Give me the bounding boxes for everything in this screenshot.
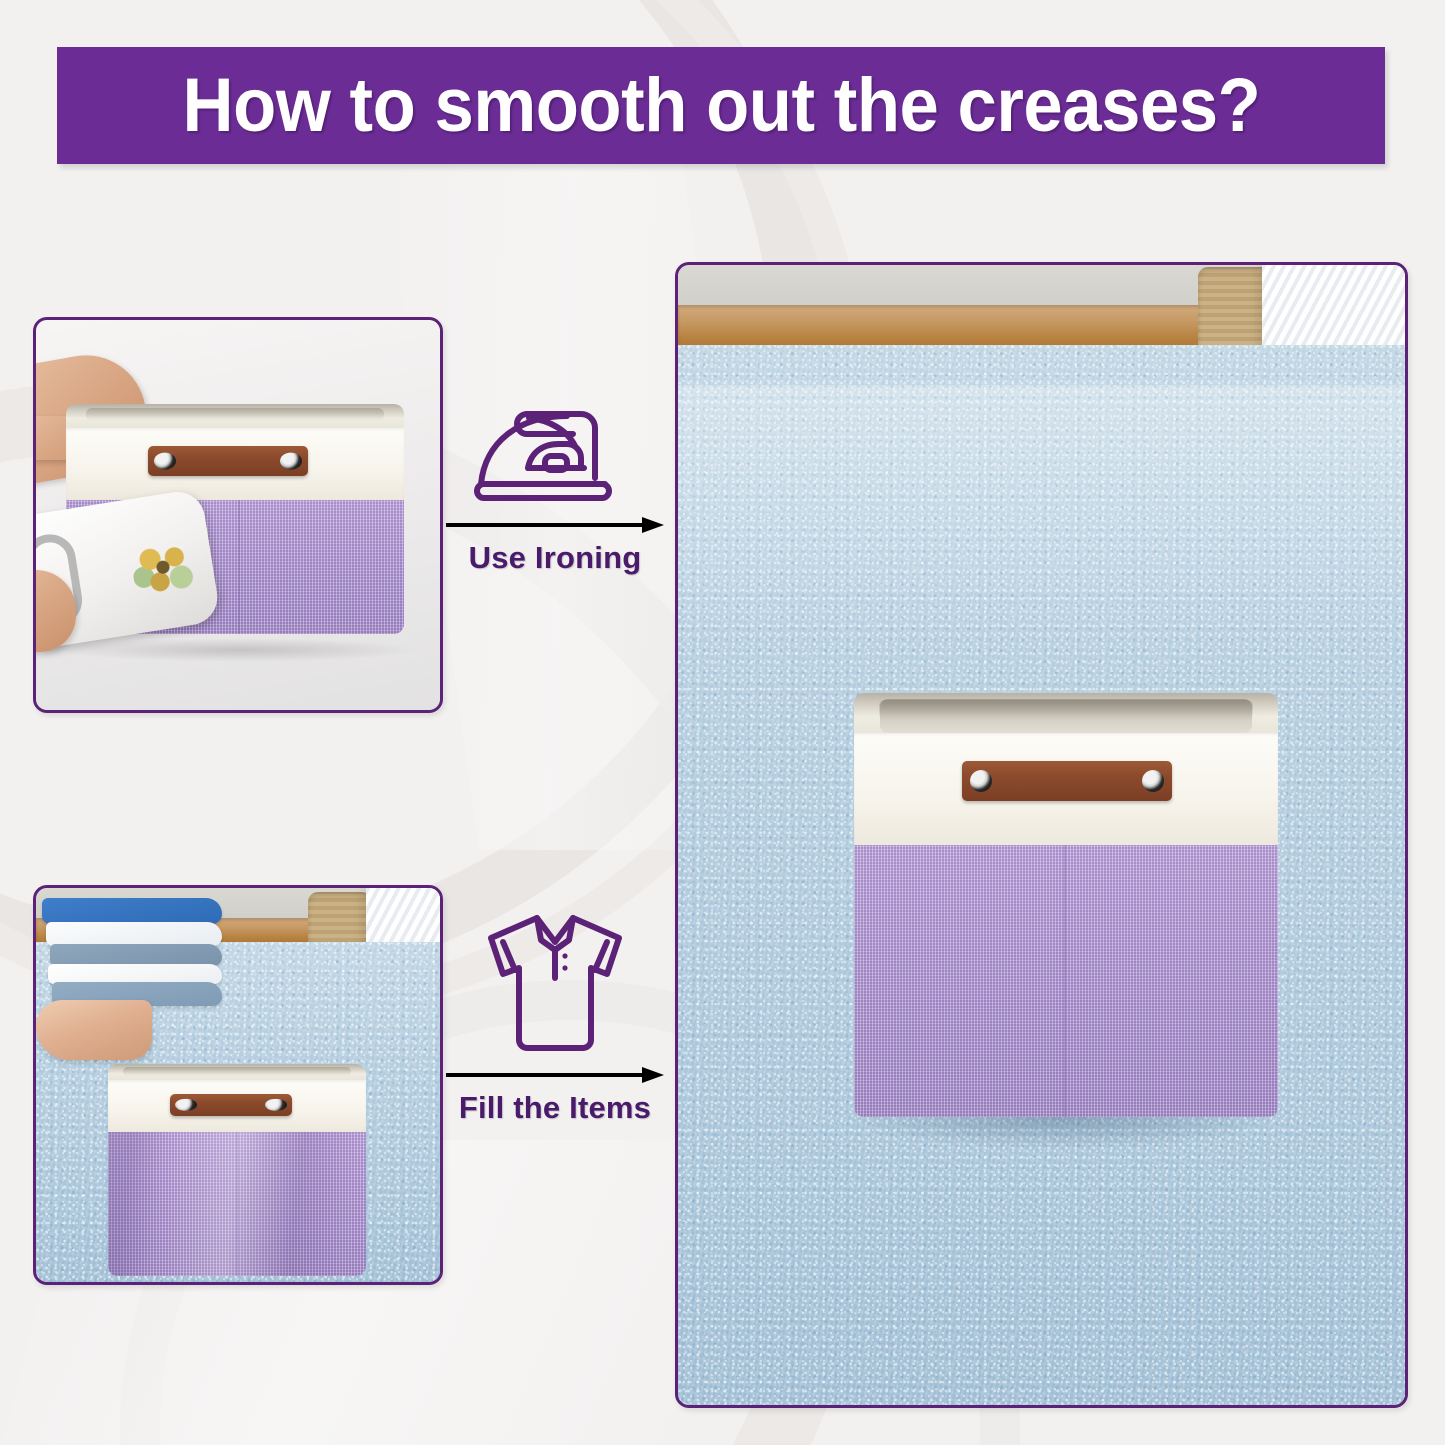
- flower-print-icon: [127, 526, 201, 605]
- page-title: How to smooth out the creases?: [182, 62, 1260, 149]
- photo-fill-basket: [36, 888, 440, 1282]
- photo-smoothed-basket: [678, 265, 1405, 1405]
- folded-garment: [48, 964, 222, 984]
- folded-garment: [42, 898, 222, 924]
- basket-inner-shadow: [880, 699, 1252, 733]
- leather-handle: [962, 761, 1172, 801]
- crease-shading: [108, 1132, 366, 1276]
- surface-shadow: [58, 638, 418, 662]
- step-label: Use Ironing: [469, 540, 642, 576]
- iron-icon: [471, 396, 639, 508]
- step-label: Fill the Items: [459, 1090, 651, 1126]
- photo-ironing-basket: [36, 320, 440, 710]
- step-fill-the-items: Fill the Items: [440, 908, 670, 1126]
- tshirt-icon: [479, 908, 631, 1058]
- leather-handle: [148, 446, 308, 476]
- folded-garment: [46, 922, 222, 946]
- folded-clothes-stack: [42, 898, 222, 1010]
- hand-icon: [36, 1000, 152, 1060]
- folded-garment: [50, 944, 222, 966]
- right-arrow-icon: [444, 516, 666, 534]
- right-arrow-icon: [444, 1066, 666, 1084]
- step-use-ironing: Use Ironing: [440, 396, 670, 576]
- result-photo-panel: [675, 262, 1408, 1408]
- step-photo-fill-the-items: [33, 885, 443, 1285]
- basket-seam: [1064, 845, 1066, 1117]
- product-basket: [108, 1064, 366, 1276]
- step-photo-use-ironing: [33, 317, 443, 713]
- leather-handle: [170, 1094, 292, 1116]
- basket-seam: [238, 500, 240, 634]
- title-banner: How to smooth out the creases?: [57, 47, 1385, 164]
- basket-purple-body: [854, 845, 1278, 1117]
- product-basket: [854, 693, 1278, 1117]
- infographic-canvas: How to smooth out the creases?: [0, 0, 1445, 1445]
